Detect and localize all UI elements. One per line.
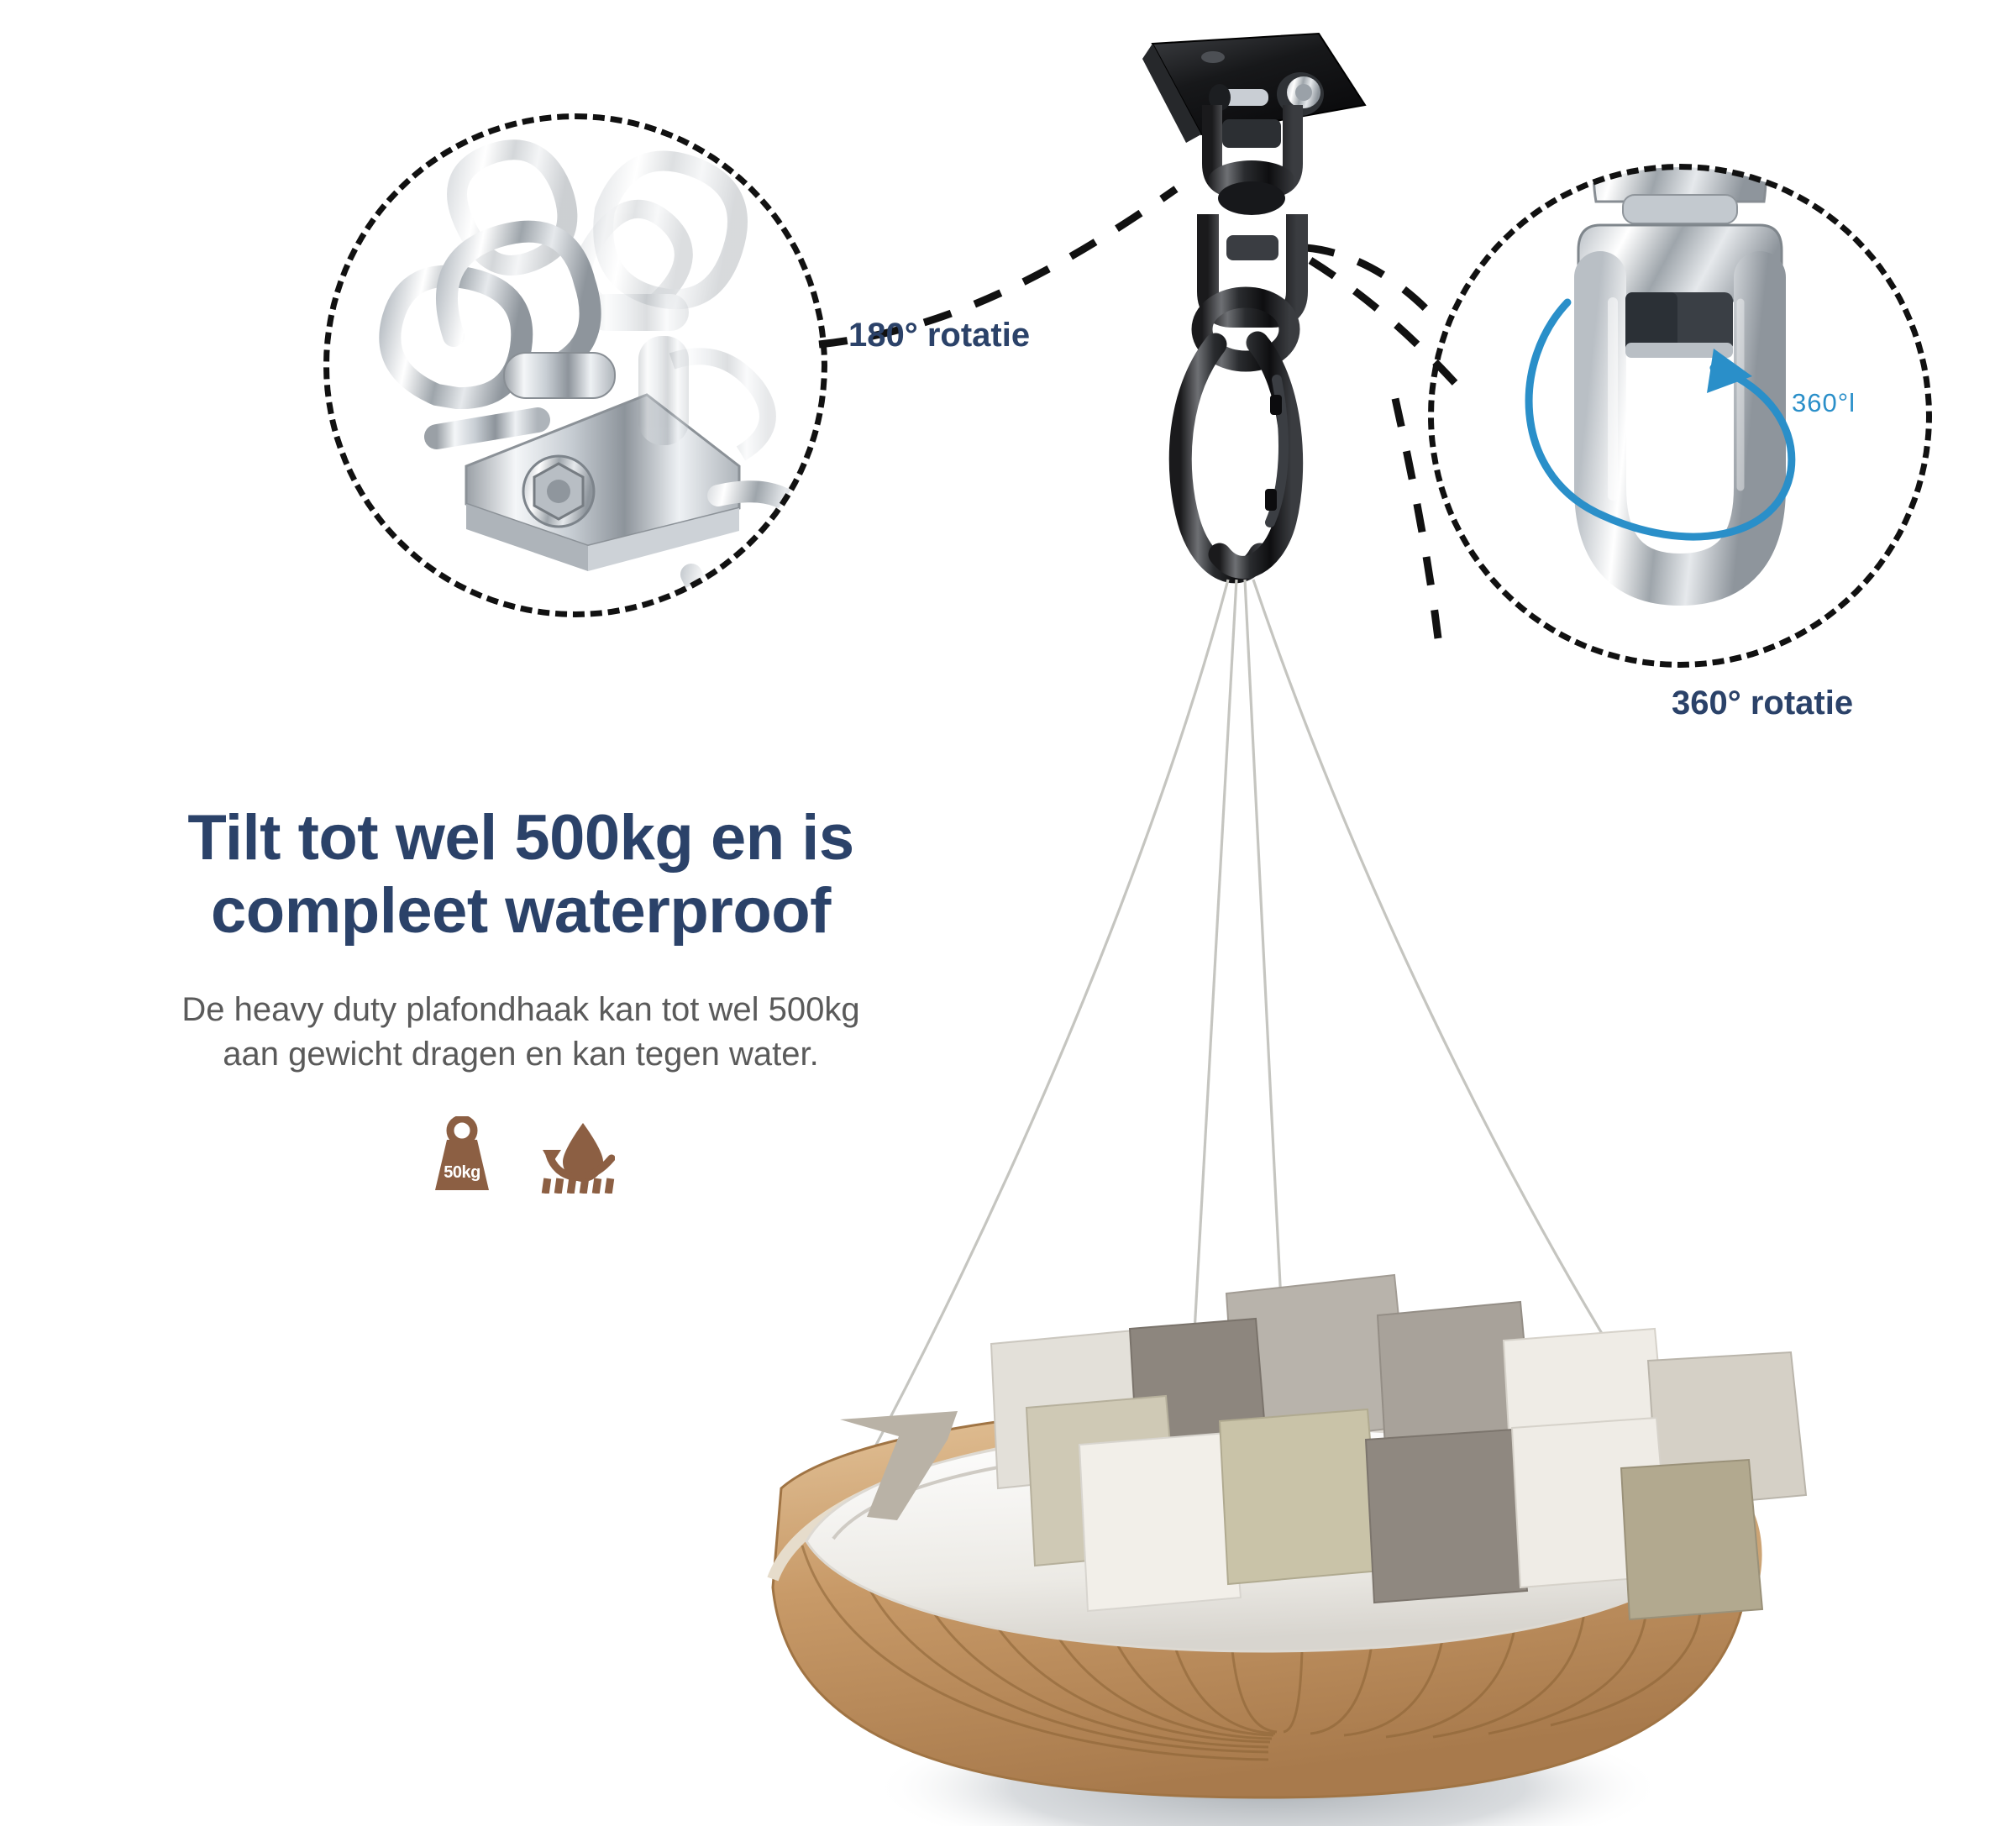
callout-label-360: 360° rotatie (1672, 685, 1853, 722)
hook-upper-swivel (1208, 105, 1295, 215)
waterproof-icon (534, 1116, 615, 1198)
hook-mount-plate (1142, 34, 1365, 143)
hook-swivel-link (1208, 214, 1297, 317)
copy-block: Tilt tot wel 500kg en is compleet waterp… (50, 802, 991, 1198)
headline-line-1: Tilt tot wel 500kg en is (187, 802, 853, 874)
weight-capacity-icon: 50kg (427, 1116, 497, 1198)
feature-icon-row: 50kg (50, 1116, 991, 1198)
hanging-rattan-daybed (773, 1275, 1806, 1826)
hook-oval-link (1202, 297, 1289, 361)
pillow (1026, 1396, 1762, 1619)
rotation-degree-annotation: 360°l (1792, 388, 1856, 418)
callout-circle-360 (1428, 164, 1932, 668)
callout-circle-180 (323, 113, 827, 617)
headline-line-2: compleet waterproof (211, 875, 831, 947)
product-feature-banner: 180° rotatie 360° rotatie 360°l Tilt tot… (0, 0, 2016, 1826)
weight-capacity-label: 50kg (427, 1163, 497, 1183)
carabiner (1180, 343, 1291, 572)
callout-label-180: 180° rotatie (848, 317, 1030, 354)
plate-bolt-nut (1277, 72, 1324, 116)
subheadline-line-2: aan gewicht dragen en kan tegen water. (223, 1036, 818, 1073)
page-title: Tilt tot wel 500kg en is compleet waterp… (50, 802, 991, 947)
page-subtitle: De heavy duty plafondhaak kan tot wel 50… (84, 988, 958, 1077)
subheadline-line-1: De heavy duty plafondhaak kan tot wel 50… (181, 991, 859, 1028)
pillow (991, 1275, 1806, 1509)
heavy-duty-ceiling-hook (1142, 34, 1365, 572)
